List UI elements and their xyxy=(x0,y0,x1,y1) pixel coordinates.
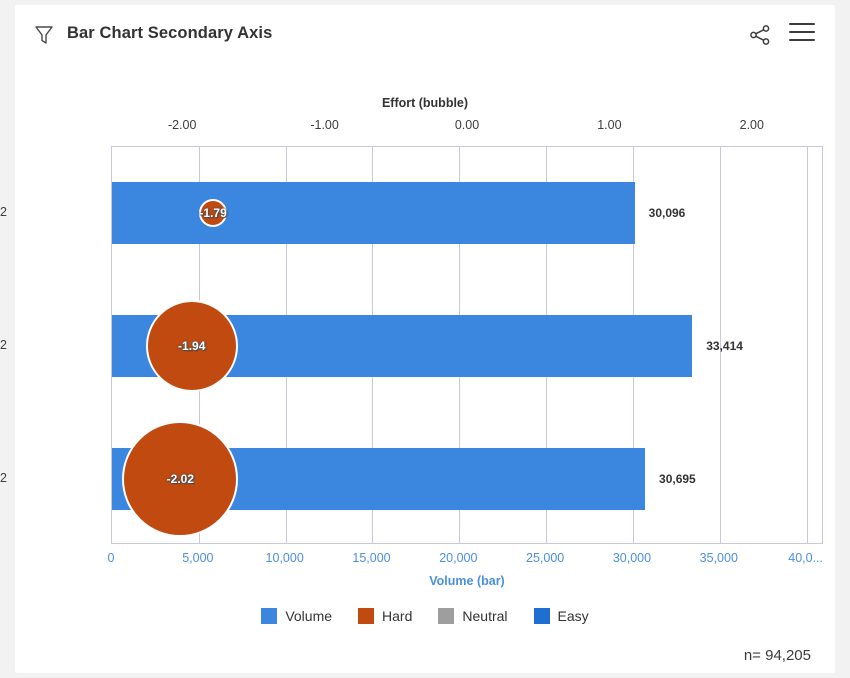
bubble-effort[interactable]: -2.02 xyxy=(122,421,238,537)
primary-axis-ticks: 05,00010,00015,00020,00025,00030,00035,0… xyxy=(15,551,835,569)
menu-line xyxy=(789,23,815,25)
chart-plot-area: Effort (bubble) -2.00-1.000.001.002.00 3… xyxy=(15,67,835,673)
filter-funnel-icon[interactable] xyxy=(33,23,55,47)
x-tick-label: 35,000 xyxy=(700,551,738,565)
share-icon[interactable] xyxy=(748,23,772,47)
legend-label: Volume xyxy=(285,608,332,624)
legend-item[interactable]: Easy xyxy=(534,608,589,624)
secondary-axis-title: Effort (bubble) xyxy=(15,96,835,110)
hamburger-menu-icon[interactable] xyxy=(789,23,815,47)
x-tick-label: 30,000 xyxy=(613,551,651,565)
page-title: Bar Chart Secondary Axis xyxy=(67,24,272,43)
secondary-x-tick-label: 1.00 xyxy=(597,118,621,132)
menu-line xyxy=(789,39,815,41)
bubble-effort[interactable]: -1.94 xyxy=(146,300,238,392)
bar-value-label: 30,096 xyxy=(649,206,686,220)
secondary-x-tick-label: 2.00 xyxy=(740,118,764,132)
chart-card: Bar Chart Secondary Axis Effort (bubble)… xyxy=(15,5,835,673)
category-label: May 2022 xyxy=(0,338,7,352)
secondary-x-tick-label: -1.00 xyxy=(310,118,339,132)
legend-label: Hard xyxy=(382,608,412,624)
card-header: Bar Chart Secondary Axis xyxy=(15,5,835,67)
x-tick-label: 10,000 xyxy=(266,551,304,565)
legend-item[interactable]: Neutral xyxy=(438,608,507,624)
menu-line xyxy=(789,31,815,33)
x-tick-label: 5,000 xyxy=(182,551,213,565)
legend-label: Neutral xyxy=(462,608,507,624)
bubble-value-label: -1.79 xyxy=(199,206,226,220)
legend-swatch xyxy=(534,608,550,624)
bar-value-label: 33,414 xyxy=(706,339,743,353)
bar-volume[interactable] xyxy=(112,182,635,244)
x-tick-label: 15,000 xyxy=(352,551,390,565)
secondary-x-tick-label: 0.00 xyxy=(455,118,479,132)
legend-swatch xyxy=(358,608,374,624)
x-tick-label: 25,000 xyxy=(526,551,564,565)
x-tick-label: 20,000 xyxy=(439,551,477,565)
gridline xyxy=(807,147,808,543)
plot-grid: 30,096-1.7933,414-1.9430,695-2.02 xyxy=(111,146,823,544)
bubble-effort[interactable]: -1.79 xyxy=(199,199,227,227)
sample-size-label: n= 94,205 xyxy=(744,647,811,664)
secondary-axis-ticks: -2.00-1.000.001.002.00 xyxy=(15,118,835,136)
chart-legend: VolumeHardNeutralEasy xyxy=(15,608,835,624)
legend-swatch xyxy=(438,608,454,624)
category-label: June 2022 xyxy=(0,471,7,485)
legend-item[interactable]: Volume xyxy=(261,608,332,624)
legend-label: Easy xyxy=(558,608,589,624)
secondary-x-tick-label: -2.00 xyxy=(168,118,197,132)
x-tick-label: 0 xyxy=(108,551,115,565)
legend-item[interactable]: Hard xyxy=(358,608,412,624)
bubble-value-label: -2.02 xyxy=(167,472,194,486)
category-label: April 2022 xyxy=(0,205,7,219)
x-tick-label: 40,0... xyxy=(788,551,823,565)
bar-value-label: 30,695 xyxy=(659,472,696,486)
legend-swatch xyxy=(261,608,277,624)
bubble-value-label: -1.94 xyxy=(178,339,205,353)
primary-axis-title: Volume (bar) xyxy=(111,574,823,588)
